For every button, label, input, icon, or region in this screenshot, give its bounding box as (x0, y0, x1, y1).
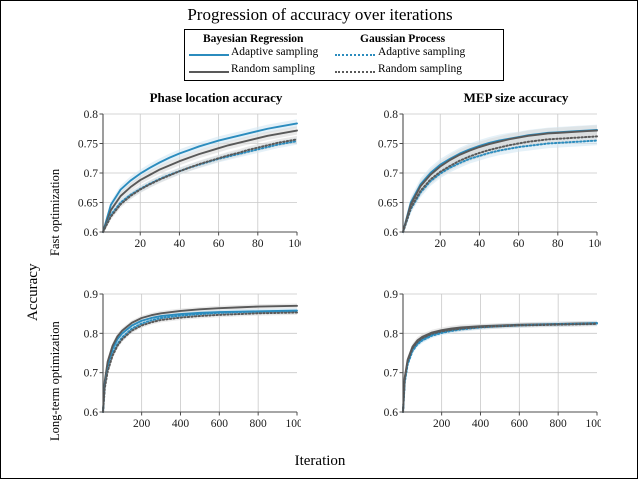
legend-label-br-random: Random sampling (231, 63, 315, 75)
chart-mep-fast: 0.60.650.70.750.820406080100 (361, 106, 601, 254)
y-tick-label: 0.9 (384, 289, 399, 301)
x-tick-label: 100 (288, 238, 301, 250)
x-tick-label: 100 (588, 238, 601, 250)
figure-title: Progression of accuracy over iterations (1, 5, 638, 25)
y-tick-label: 0.65 (378, 198, 398, 210)
subplot-mep-fast: 0.60.650.70.750.820406080100 (361, 106, 601, 259)
legend-swatch-br-random (189, 71, 229, 73)
subplot-mep-longterm: 0.60.70.80.92004006008001000 (361, 286, 601, 439)
legend-label-br-adaptive: Adaptive sampling (231, 46, 318, 58)
x-tick-label: 60 (513, 238, 525, 250)
chart-phase-long: 0.60.70.80.92004006008001000 (61, 286, 301, 434)
x-tick-label: 800 (250, 418, 268, 430)
y-tick-label: 0.75 (78, 139, 98, 151)
legend-swatch-gp-adaptive (335, 54, 375, 56)
y-axis-label: Accuracy (25, 264, 42, 321)
series-line (103, 311, 297, 412)
legend-group-header-bayesian: Bayesian Regression (203, 33, 303, 45)
subplot-phase-longterm: 0.60.70.80.92004006008001000 (61, 286, 301, 439)
subplot-title-phase: Phase location accuracy (96, 90, 336, 106)
series-line (403, 323, 597, 412)
y-tick-label: 0.8 (384, 109, 399, 121)
legend-swatch-gp-random (335, 71, 375, 73)
y-tick-label: 0.8 (84, 328, 99, 340)
x-tick-label: 80 (252, 238, 264, 250)
y-tick-label: 0.7 (84, 368, 99, 380)
x-tick-label: 60 (213, 238, 225, 250)
legend-group-header-gaussian: Gaussian Process (360, 33, 445, 45)
y-tick-label: 0.9 (84, 289, 99, 301)
y-tick-label: 0.8 (84, 109, 99, 121)
x-tick-label: 400 (472, 418, 490, 430)
chart-mep-long: 0.60.70.80.92004006008001000 (361, 286, 601, 434)
y-tick-label: 0.75 (378, 139, 398, 151)
x-tick-label: 20 (434, 238, 446, 250)
x-tick-label: 40 (474, 238, 486, 250)
x-tick-label: 800 (550, 418, 568, 430)
y-tick-label: 0.8 (384, 328, 399, 340)
subplot-phase-fast: 0.60.650.70.750.820406080100 (61, 106, 301, 259)
subplot-title-mep: MEP size accuracy (396, 90, 636, 106)
legend-swatch-br-adaptive (189, 54, 229, 56)
y-tick-label: 0.6 (384, 227, 399, 239)
y-tick-label: 0.7 (384, 168, 399, 180)
y-tick-label: 0.6 (84, 227, 99, 239)
legend-label-gp-adaptive: Adaptive sampling (378, 46, 465, 58)
x-tick-label: 400 (172, 418, 190, 430)
x-tick-label: 200 (433, 418, 451, 430)
y-tick-label: 0.65 (78, 198, 98, 210)
x-tick-label: 80 (552, 238, 564, 250)
x-tick-label: 1000 (286, 418, 302, 430)
x-axis-label: Iteration (1, 453, 638, 470)
y-tick-label: 0.6 (84, 407, 99, 419)
series-line (103, 306, 297, 412)
confidence-band (103, 303, 297, 413)
figure-container: Progression of accuracy over iterations … (0, 0, 638, 479)
y-tick-label: 0.7 (84, 168, 99, 180)
legend-label-gp-random: Random sampling (378, 63, 462, 75)
x-tick-label: 600 (211, 418, 229, 430)
legend: Bayesian Regression Gaussian Process Ada… (184, 29, 504, 81)
y-tick-label: 0.6 (384, 407, 399, 419)
chart-phase-fast: 0.60.650.70.750.820406080100 (61, 106, 301, 254)
x-tick-label: 40 (174, 238, 186, 250)
x-tick-label: 600 (511, 418, 529, 430)
x-tick-label: 1000 (586, 418, 602, 430)
x-tick-label: 20 (134, 238, 146, 250)
y-tick-label: 0.7 (384, 368, 399, 380)
x-tick-label: 200 (133, 418, 151, 430)
